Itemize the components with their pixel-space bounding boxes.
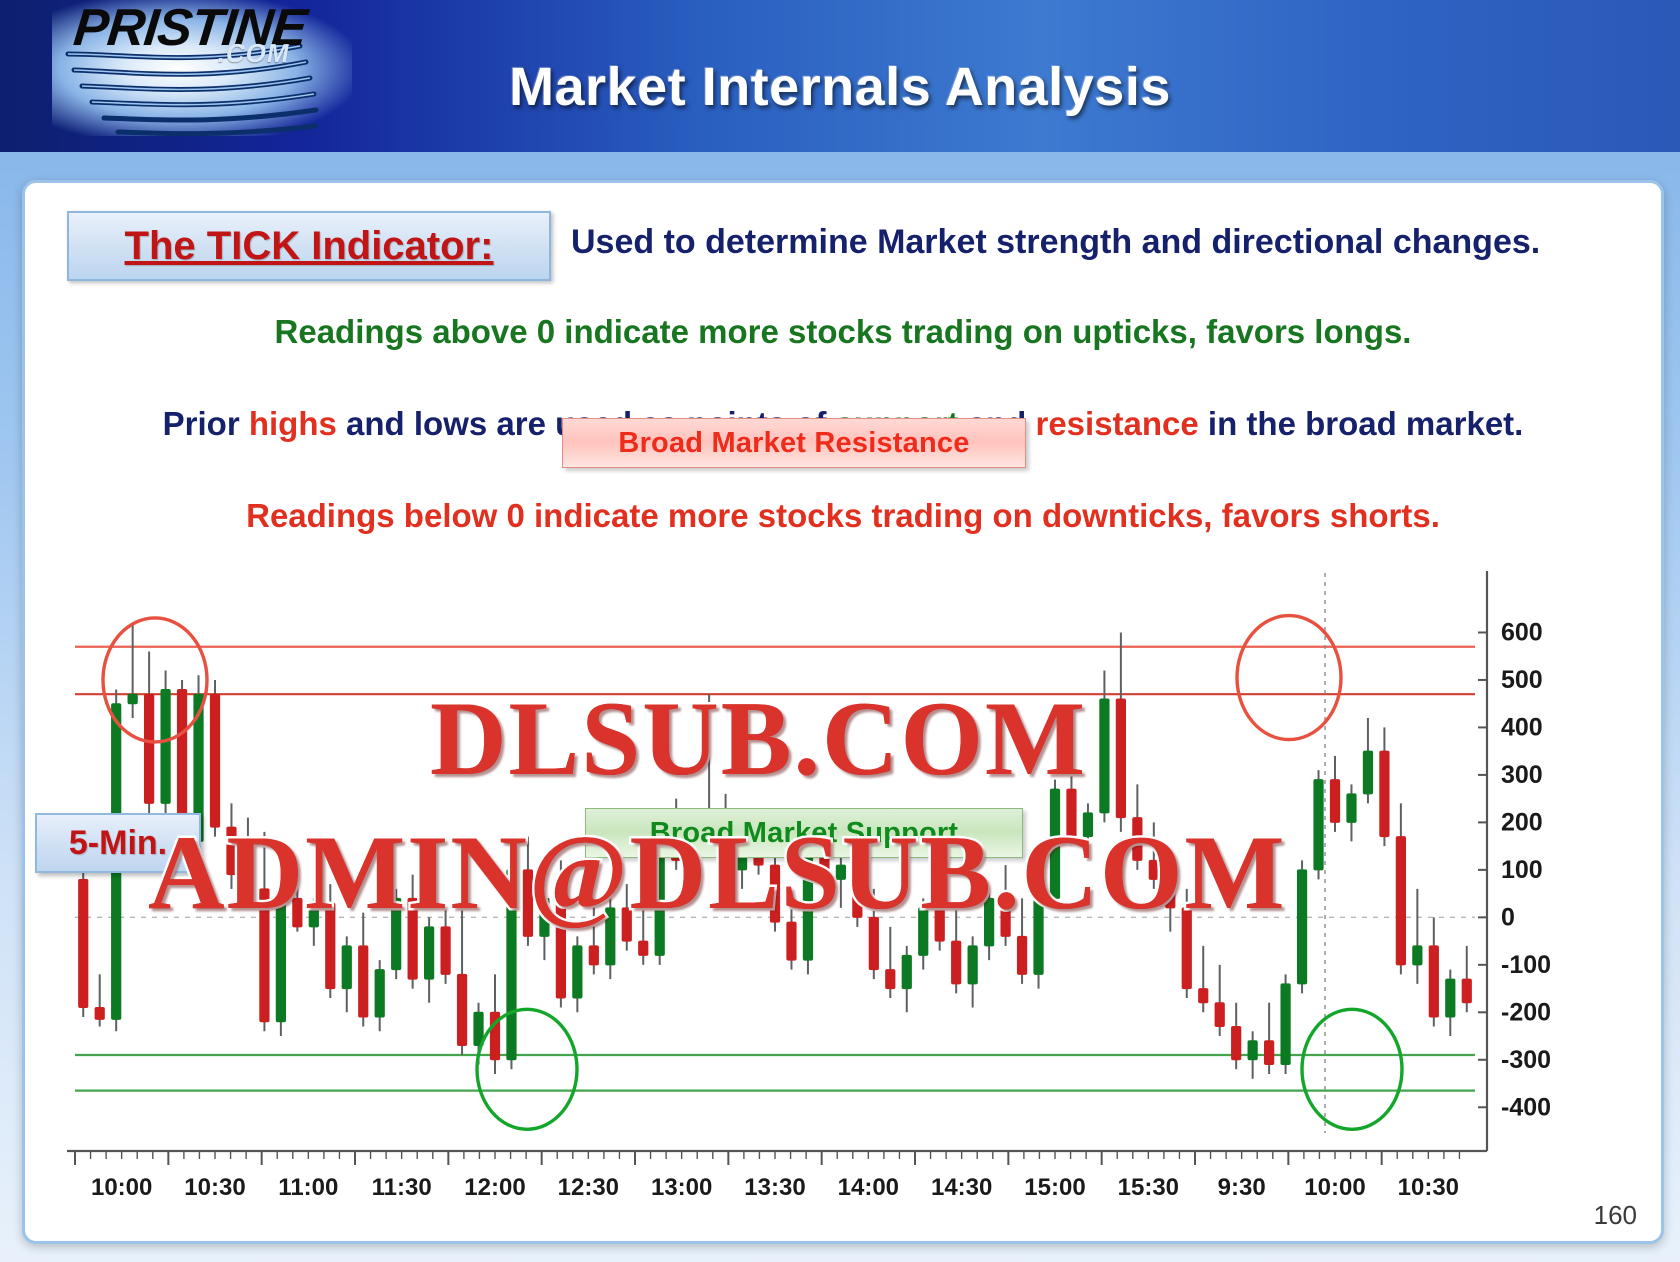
candle <box>260 832 269 1031</box>
candle <box>243 818 252 899</box>
tick-indicator-label: The TICK Indicator: <box>125 224 494 269</box>
candle <box>622 884 631 950</box>
candle <box>1297 860 1306 993</box>
candle <box>1215 965 1224 1036</box>
slide: PRISTINE .COM Market Internals Analysis … <box>0 0 1680 1262</box>
sr-text-a: Prior <box>163 405 249 442</box>
candle <box>1050 780 1059 908</box>
content-card: The TICK Indicator: Used to determine Ma… <box>22 180 1664 1244</box>
y-axis-tick-label: 200 <box>1501 808 1543 836</box>
candle <box>128 623 137 718</box>
candle <box>1347 784 1356 841</box>
candle <box>1380 727 1389 846</box>
sr-text-d: in the broad market. <box>1199 405 1524 442</box>
candle <box>457 870 466 1055</box>
x-axis-tick-label: 11:00 <box>278 1174 338 1201</box>
candle <box>1462 946 1471 1012</box>
y-axis-tick-label: -200 <box>1501 998 1551 1026</box>
y-axis-tick-label: 600 <box>1501 618 1543 646</box>
candle <box>968 936 977 1007</box>
candle <box>573 936 582 1012</box>
candle <box>1149 822 1158 888</box>
candle <box>1182 889 1191 998</box>
candle <box>1001 865 1010 946</box>
support-annotation-label: Broad Market Support <box>650 817 959 850</box>
highlight-circle-resistance-touch-left <box>103 618 207 742</box>
candle <box>309 898 318 945</box>
x-axis-tick-label: 11:30 <box>372 1174 432 1201</box>
candle <box>1067 765 1076 846</box>
candle <box>227 803 236 888</box>
tick-indicator-box: The TICK Indicator: <box>67 211 551 281</box>
x-axis-tick-label: 14:00 <box>838 1174 899 1201</box>
candle <box>425 917 434 1002</box>
y-axis-tick-label: 500 <box>1501 666 1543 694</box>
x-axis-tick-label: 9:30 <box>1218 1174 1266 1201</box>
candle <box>606 898 615 979</box>
tick-description: Used to determine Market strength and di… <box>571 223 1540 262</box>
page-number: 160 <box>1594 1200 1637 1231</box>
highlight-circle-support-touch-left <box>477 1009 577 1129</box>
support-annotation: Broad Market Support <box>585 808 1023 858</box>
sr-highs: highs <box>249 405 337 442</box>
candle <box>161 670 170 817</box>
candle <box>919 898 928 969</box>
candle <box>1413 889 1422 984</box>
candle <box>1363 718 1372 803</box>
y-axis-tick-label: -400 <box>1501 1093 1551 1121</box>
x-axis-tick-label: 15:30 <box>1118 1174 1179 1201</box>
candle <box>507 860 516 1069</box>
tick-candlestick-chart: 6005004003002001000-100-200-300-40010:00… <box>47 571 1639 1231</box>
candle <box>1429 917 1438 1026</box>
candle <box>79 860 88 1017</box>
candle <box>1199 946 1208 1012</box>
candle <box>375 960 384 1031</box>
x-axis-tick-label: 12:30 <box>558 1174 619 1201</box>
y-axis-tick-label: 100 <box>1501 856 1543 884</box>
candle <box>1248 1031 1257 1078</box>
x-axis-tick-label: 10:00 <box>91 1174 152 1201</box>
candle <box>952 908 961 993</box>
page-title: Market Internals Analysis <box>0 56 1680 118</box>
candle <box>1330 756 1339 832</box>
candle <box>145 651 154 822</box>
chart-canvas: 6005004003002001000-100-200-300-40010:00… <box>47 571 1639 1231</box>
candle <box>342 936 351 1012</box>
candle <box>1265 1003 1274 1074</box>
resistance-annotation-label: Broad Market Resistance <box>618 427 969 460</box>
y-axis-tick-label: 300 <box>1501 761 1543 789</box>
candle <box>836 856 845 908</box>
candle <box>1133 784 1142 869</box>
candle <box>902 946 911 1012</box>
y-axis-tick-label: 400 <box>1501 713 1543 741</box>
downtick-statement: Readings below 0 indicate more stocks tr… <box>25 497 1661 535</box>
x-axis-tick-label: 13:00 <box>651 1174 712 1201</box>
candle <box>276 889 285 1036</box>
candle <box>408 875 417 989</box>
resistance-annotation: Broad Market Resistance <box>562 418 1026 468</box>
candle <box>787 898 796 969</box>
candle <box>1116 632 1125 831</box>
candle <box>1446 970 1455 1036</box>
candle <box>1017 898 1026 983</box>
candle <box>359 913 368 1027</box>
candle <box>293 865 302 931</box>
candle <box>1166 860 1175 931</box>
candle <box>210 680 219 837</box>
candle <box>589 903 598 974</box>
candle <box>1232 1003 1241 1069</box>
candle <box>639 903 648 965</box>
x-axis-tick-label: 14:30 <box>931 1174 992 1201</box>
timeframe-badge-label: 5-Min. <box>69 824 167 863</box>
highlight-circle-resistance-touch-right <box>1237 616 1341 740</box>
candle <box>523 837 532 946</box>
y-axis-tick-label: 0 <box>1501 903 1515 931</box>
x-axis-tick-label: 10:30 <box>184 1174 245 1201</box>
highlight-circle-support-touch-right <box>1302 1009 1402 1129</box>
x-axis-tick-label: 15:00 <box>1024 1174 1085 1201</box>
candle <box>95 974 104 1026</box>
x-axis-tick-label: 13:30 <box>744 1174 805 1201</box>
candle <box>1034 889 1043 989</box>
candle <box>540 889 549 960</box>
candle <box>869 889 878 979</box>
y-axis-tick-label: -100 <box>1501 951 1551 979</box>
x-axis-tick-label: 10:30 <box>1398 1174 1459 1201</box>
candle <box>441 903 450 984</box>
candle <box>1083 803 1092 860</box>
timeframe-badge: 5-Min. <box>35 813 201 873</box>
candle <box>1396 803 1405 974</box>
candle <box>985 889 994 960</box>
candle <box>886 927 895 998</box>
candle <box>392 889 401 979</box>
x-axis-tick-label: 10:00 <box>1304 1174 1365 1201</box>
candle <box>935 875 944 951</box>
uptick-statement: Readings above 0 indicate more stocks tr… <box>25 313 1661 351</box>
candle <box>1314 770 1323 879</box>
candle <box>1281 974 1290 1074</box>
candle <box>556 860 565 1007</box>
y-axis-tick-label: -300 <box>1501 1046 1551 1074</box>
slide-header: PRISTINE .COM Market Internals Analysis <box>0 0 1680 152</box>
x-axis-tick-label: 12:00 <box>464 1174 525 1201</box>
sr-resistance: resistance <box>1035 405 1198 442</box>
candle <box>326 884 335 998</box>
